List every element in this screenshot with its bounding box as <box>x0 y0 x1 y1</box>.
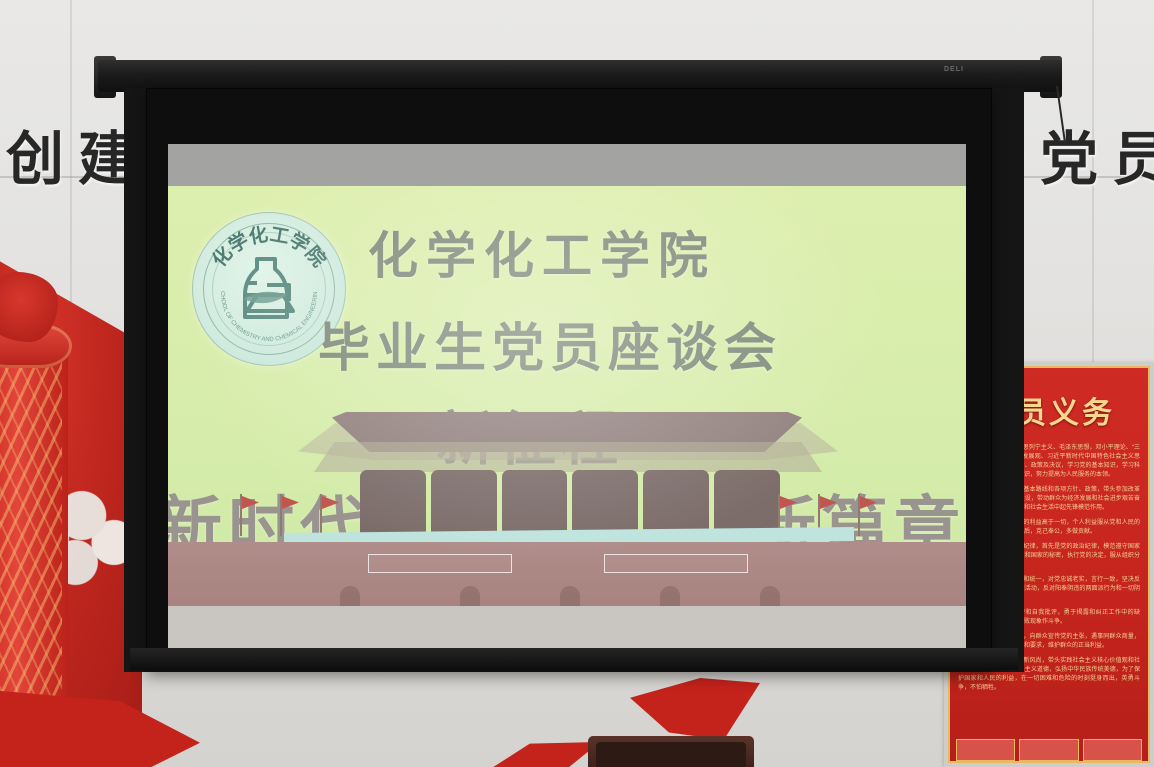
seal-flask-emblem <box>227 249 311 329</box>
wooden-chair-back <box>588 736 754 767</box>
huabiao-column-graphic <box>0 258 142 728</box>
gate-lower-eave <box>314 442 822 472</box>
screen-brand-label: DELI <box>944 66 964 73</box>
gate-banner-right <box>604 554 748 573</box>
gate-pillar <box>502 470 568 536</box>
presentation-title-slide: 化学化工学院 SCHOOL OF CHEMISTRY AND CHEMICAL … <box>168 186 966 606</box>
gate-archway <box>340 586 360 606</box>
poster-footer-block <box>956 739 1015 761</box>
gate-pillar <box>572 470 638 536</box>
gate-banner-left <box>368 554 512 573</box>
flag-icon <box>858 494 878 536</box>
flag-icon <box>320 494 340 536</box>
gate-pillar <box>643 470 709 536</box>
slide-heading-event: 毕业生党员座谈会 <box>318 306 782 381</box>
room-photo-scene: 创建 产党员 党员义务 （一）认真学习马克思列宁主义、毛泽东思想，邓小平理论、“… <box>0 0 1154 767</box>
projection-letterbox-top <box>168 144 966 186</box>
projection-screen-weight-bar <box>130 648 1018 670</box>
flag-icon <box>280 494 300 536</box>
gate-archway <box>460 586 480 606</box>
gate-archway <box>660 586 680 606</box>
gate-pillar <box>714 470 780 536</box>
gate-pillar <box>360 470 426 536</box>
poster-footer-blocks <box>950 739 1148 761</box>
projection-letterbox-bottom <box>168 606 966 650</box>
gate-archway <box>560 586 580 606</box>
huabiao-column-shaft <box>0 354 68 728</box>
flag-group-left <box>240 494 340 536</box>
poster-footer-block <box>1083 739 1142 761</box>
tiananmen-gate-illustration <box>298 396 838 606</box>
poster-footer-block <box>1019 739 1078 761</box>
gate-pillar-row <box>360 470 780 536</box>
projected-image-area: 化学化工学院 SCHOOL OF CHEMISTRY AND CHEMICAL … <box>168 144 966 650</box>
flag-icon <box>240 494 260 536</box>
gate-pillar <box>431 470 497 536</box>
gate-archway <box>760 586 780 606</box>
slide-heading-college: 化学化工学院 <box>368 216 716 288</box>
